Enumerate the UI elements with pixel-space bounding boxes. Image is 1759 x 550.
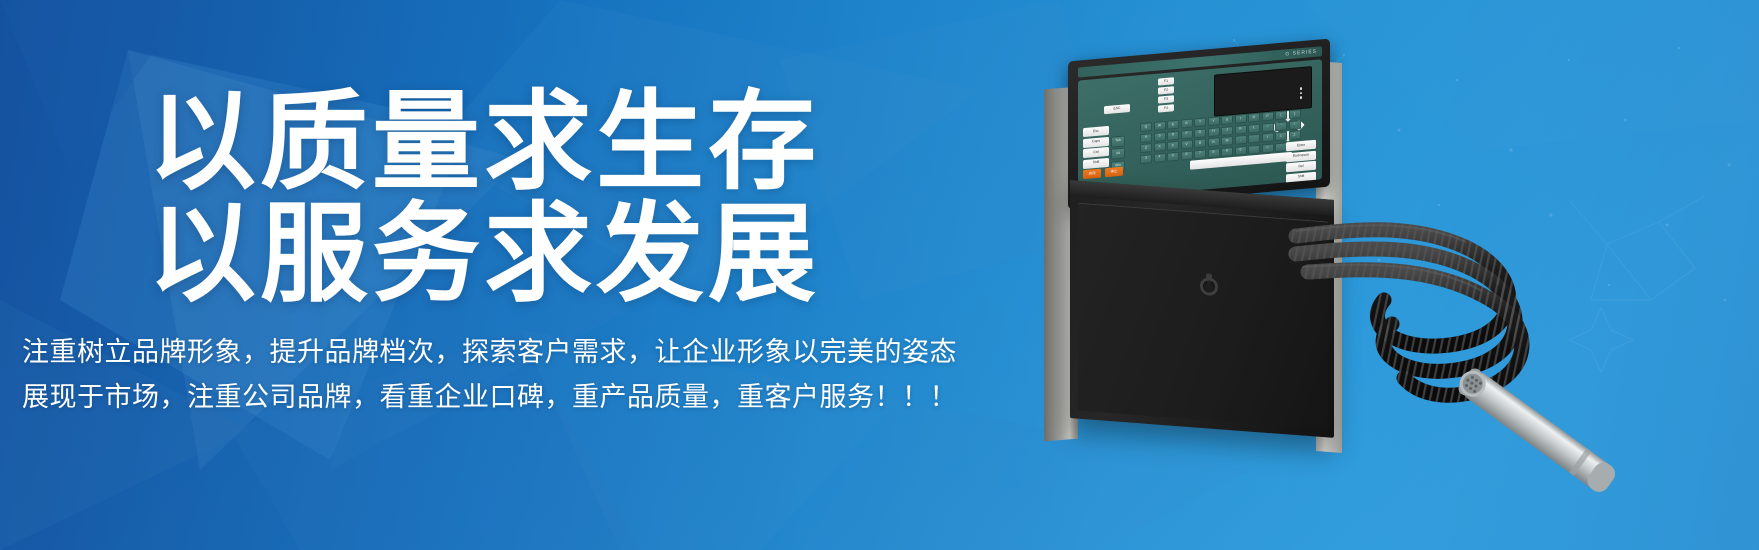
key-i[interactable]: I (1235, 114, 1247, 124)
key-a[interactable]: A (1140, 133, 1152, 143)
key-x[interactable]: X (1154, 142, 1166, 152)
key-s[interactable]: S (1154, 131, 1166, 141)
key-m[interactable]: M (1221, 136, 1233, 146)
subtitle-line-2: 展现于市场，注重公司品牌，看重企业口碑，重产品质量，重客户服务！！！ (22, 375, 957, 414)
key-1[interactable]: 1 (1275, 131, 1287, 141)
key-v[interactable]: V (1181, 140, 1193, 150)
headline-line-2: 以服务求发展 (148, 200, 820, 308)
conduit-and-nozzle (1288, 220, 1658, 525)
status-led-dots (1300, 87, 1303, 99)
key-escape[interactable]: ESC (1104, 104, 1130, 114)
key--[interactable]: - (1248, 144, 1260, 154)
key-stop[interactable]: 停止 (1105, 167, 1123, 178)
key-=[interactable]: = (1262, 143, 1274, 153)
key-q[interactable]: Q (1140, 122, 1152, 132)
key-][interactable]: ] (1289, 109, 1301, 119)
key-/[interactable]: / (1262, 132, 1274, 142)
modifier-key-column: Esc Caps Ctrl Shift (1083, 126, 1109, 169)
key-k[interactable]: K (1235, 124, 1247, 134)
promo-banner: 以质量求生存 以服务求发展 注重树立品牌形象，提升品牌档次，探索客户需求，让企业… (0, 0, 1759, 550)
key-f3[interactable]: F3 (1158, 95, 1174, 103)
key-l[interactable]: L (1248, 123, 1260, 133)
latch-ring (1200, 277, 1218, 296)
key-.[interactable]: . (1248, 134, 1260, 144)
key-h[interactable]: H (1208, 127, 1220, 137)
key-w[interactable]: W (1154, 121, 1166, 131)
key-j[interactable]: J (1221, 126, 1233, 136)
key-2[interactable]: 2 (1289, 130, 1301, 140)
key-o[interactable]: O (1248, 113, 1260, 123)
key-b[interactable]: B (1194, 138, 1206, 148)
door-latch-icon[interactable] (1198, 275, 1220, 299)
key-f1[interactable]: F1 (1158, 77, 1174, 85)
key-9[interactable]: 9 (1221, 147, 1233, 157)
key-del[interactable]: Del (1286, 161, 1316, 173)
key-t[interactable]: T (1194, 117, 1206, 127)
key-8[interactable]: 8 (1208, 148, 1220, 158)
key-c[interactable]: C (1167, 141, 1179, 151)
key-4[interactable]: 4 (1154, 152, 1166, 162)
subtitle-line-1: 注重树立品牌形象，提升品牌档次，探索客户需求，让企业形象以完美的姿态 (22, 330, 957, 369)
key-,[interactable]: , (1235, 135, 1247, 145)
key-y[interactable]: Y (1208, 116, 1220, 126)
key-6[interactable]: 6 (1181, 150, 1193, 160)
led-dot-2 (1300, 91, 1303, 94)
key-start[interactable]: 启动 (1083, 169, 1101, 180)
key-;[interactable]: ; (1262, 122, 1274, 132)
brand-strip-label: G SERIES (1285, 49, 1317, 58)
product-image-inkjet-printer: G SERIES F1 F2 F3 F4 ESC (1030, 40, 1650, 510)
key-ctrl[interactable]: Ctrl (1083, 147, 1109, 158)
key-3[interactable]: 3 (1140, 154, 1152, 164)
keypad-panel: F1 F2 F3 F4 ESC (1078, 59, 1322, 200)
key-'[interactable]: ' (1275, 121, 1287, 131)
key-r[interactable]: R (1181, 119, 1193, 129)
action-key-row: 启动 停止 (1083, 167, 1123, 179)
key-caps[interactable]: Caps (1083, 136, 1109, 147)
headline-text-block: 以质量求生存 以服务求发展 注重树立品牌形象，提升品牌档次，探索客户需求，让企业… (0, 0, 1020, 550)
key-5[interactable]: 5 (1167, 151, 1179, 161)
key-0[interactable]: 0 (1235, 145, 1247, 155)
key-shift-r[interactable]: Shift (1286, 171, 1316, 183)
key-[[interactable]: [ (1275, 110, 1287, 120)
led-dot-3 (1300, 96, 1303, 99)
key-n[interactable]: N (1208, 137, 1220, 147)
headline-line-1: 以质量求生存 (148, 88, 820, 196)
function-key-column: F1 F2 F3 F4 (1158, 77, 1174, 112)
key-enter[interactable]: Enter (1286, 140, 1316, 152)
key-f2[interactable]: F2 (1158, 86, 1174, 94)
led-dot-1 (1300, 87, 1303, 90)
key-z[interactable]: Z (1140, 143, 1152, 153)
key-f[interactable]: F (1181, 129, 1193, 139)
key-u[interactable]: U (1221, 115, 1233, 125)
key-esc[interactable]: Esc (1083, 126, 1109, 137)
key-tab[interactable]: Tab (1111, 135, 1125, 147)
key-p[interactable]: P (1262, 111, 1274, 121)
key-g[interactable]: G (1194, 128, 1206, 138)
command-key-column: Enter Backspace Del Shift (1286, 140, 1316, 183)
key-\[interactable]: \ (1289, 120, 1301, 130)
key-d[interactable]: D (1167, 130, 1179, 140)
key-f4[interactable]: F4 (1158, 104, 1174, 112)
key-7[interactable]: 7 (1194, 149, 1206, 159)
key-e[interactable]: E (1167, 120, 1179, 130)
key-shift[interactable]: Shift (1083, 157, 1109, 168)
key-alt[interactable]: Alt (1111, 147, 1125, 159)
